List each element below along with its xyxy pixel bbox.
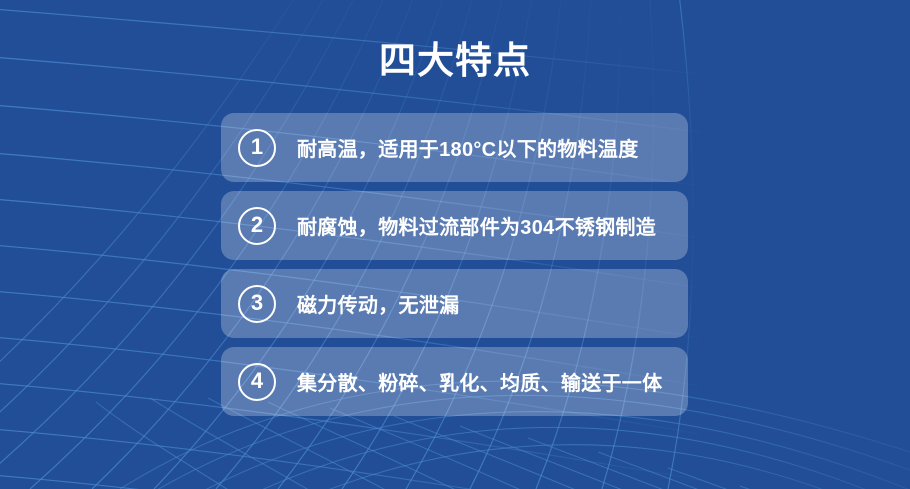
feature-text-2: 耐腐蚀，物料过流部件为304不锈钢制造	[297, 211, 656, 240]
feature-item-3[interactable]: 3 磁力传动，无泄漏	[221, 269, 688, 338]
feature-number-2: 2	[251, 214, 263, 236]
feature-number-1: 1	[251, 136, 263, 158]
page-title: 四大特点	[0, 38, 910, 84]
feature-item-2[interactable]: 2 耐腐蚀，物料过流部件为304不锈钢制造	[221, 191, 688, 260]
feature-highlight-banner: 四大特点 1 耐高温，适用于180°C以下的物料温度 2 耐腐蚀，物料过流部件为…	[0, 0, 910, 489]
feature-number-badge-3: 3	[238, 285, 276, 323]
feature-number-badge-1: 1	[238, 129, 276, 167]
feature-text-3: 磁力传动，无泄漏	[297, 289, 459, 318]
feature-item-1[interactable]: 1 耐高温，适用于180°C以下的物料温度	[221, 113, 688, 182]
feature-item-4[interactable]: 4 集分散、粉碎、乳化、均质、输送于一体	[221, 347, 688, 416]
feature-text-4: 集分散、粉碎、乳化、均质、输送于一体	[297, 367, 662, 396]
feature-number-4: 4	[251, 370, 263, 392]
feature-number-3: 3	[251, 292, 263, 314]
feature-number-badge-2: 2	[238, 207, 276, 245]
feature-list: 1 耐高温，适用于180°C以下的物料温度 2 耐腐蚀，物料过流部件为304不锈…	[221, 113, 688, 425]
feature-number-badge-4: 4	[238, 363, 276, 401]
feature-text-1: 耐高温，适用于180°C以下的物料温度	[297, 133, 639, 162]
